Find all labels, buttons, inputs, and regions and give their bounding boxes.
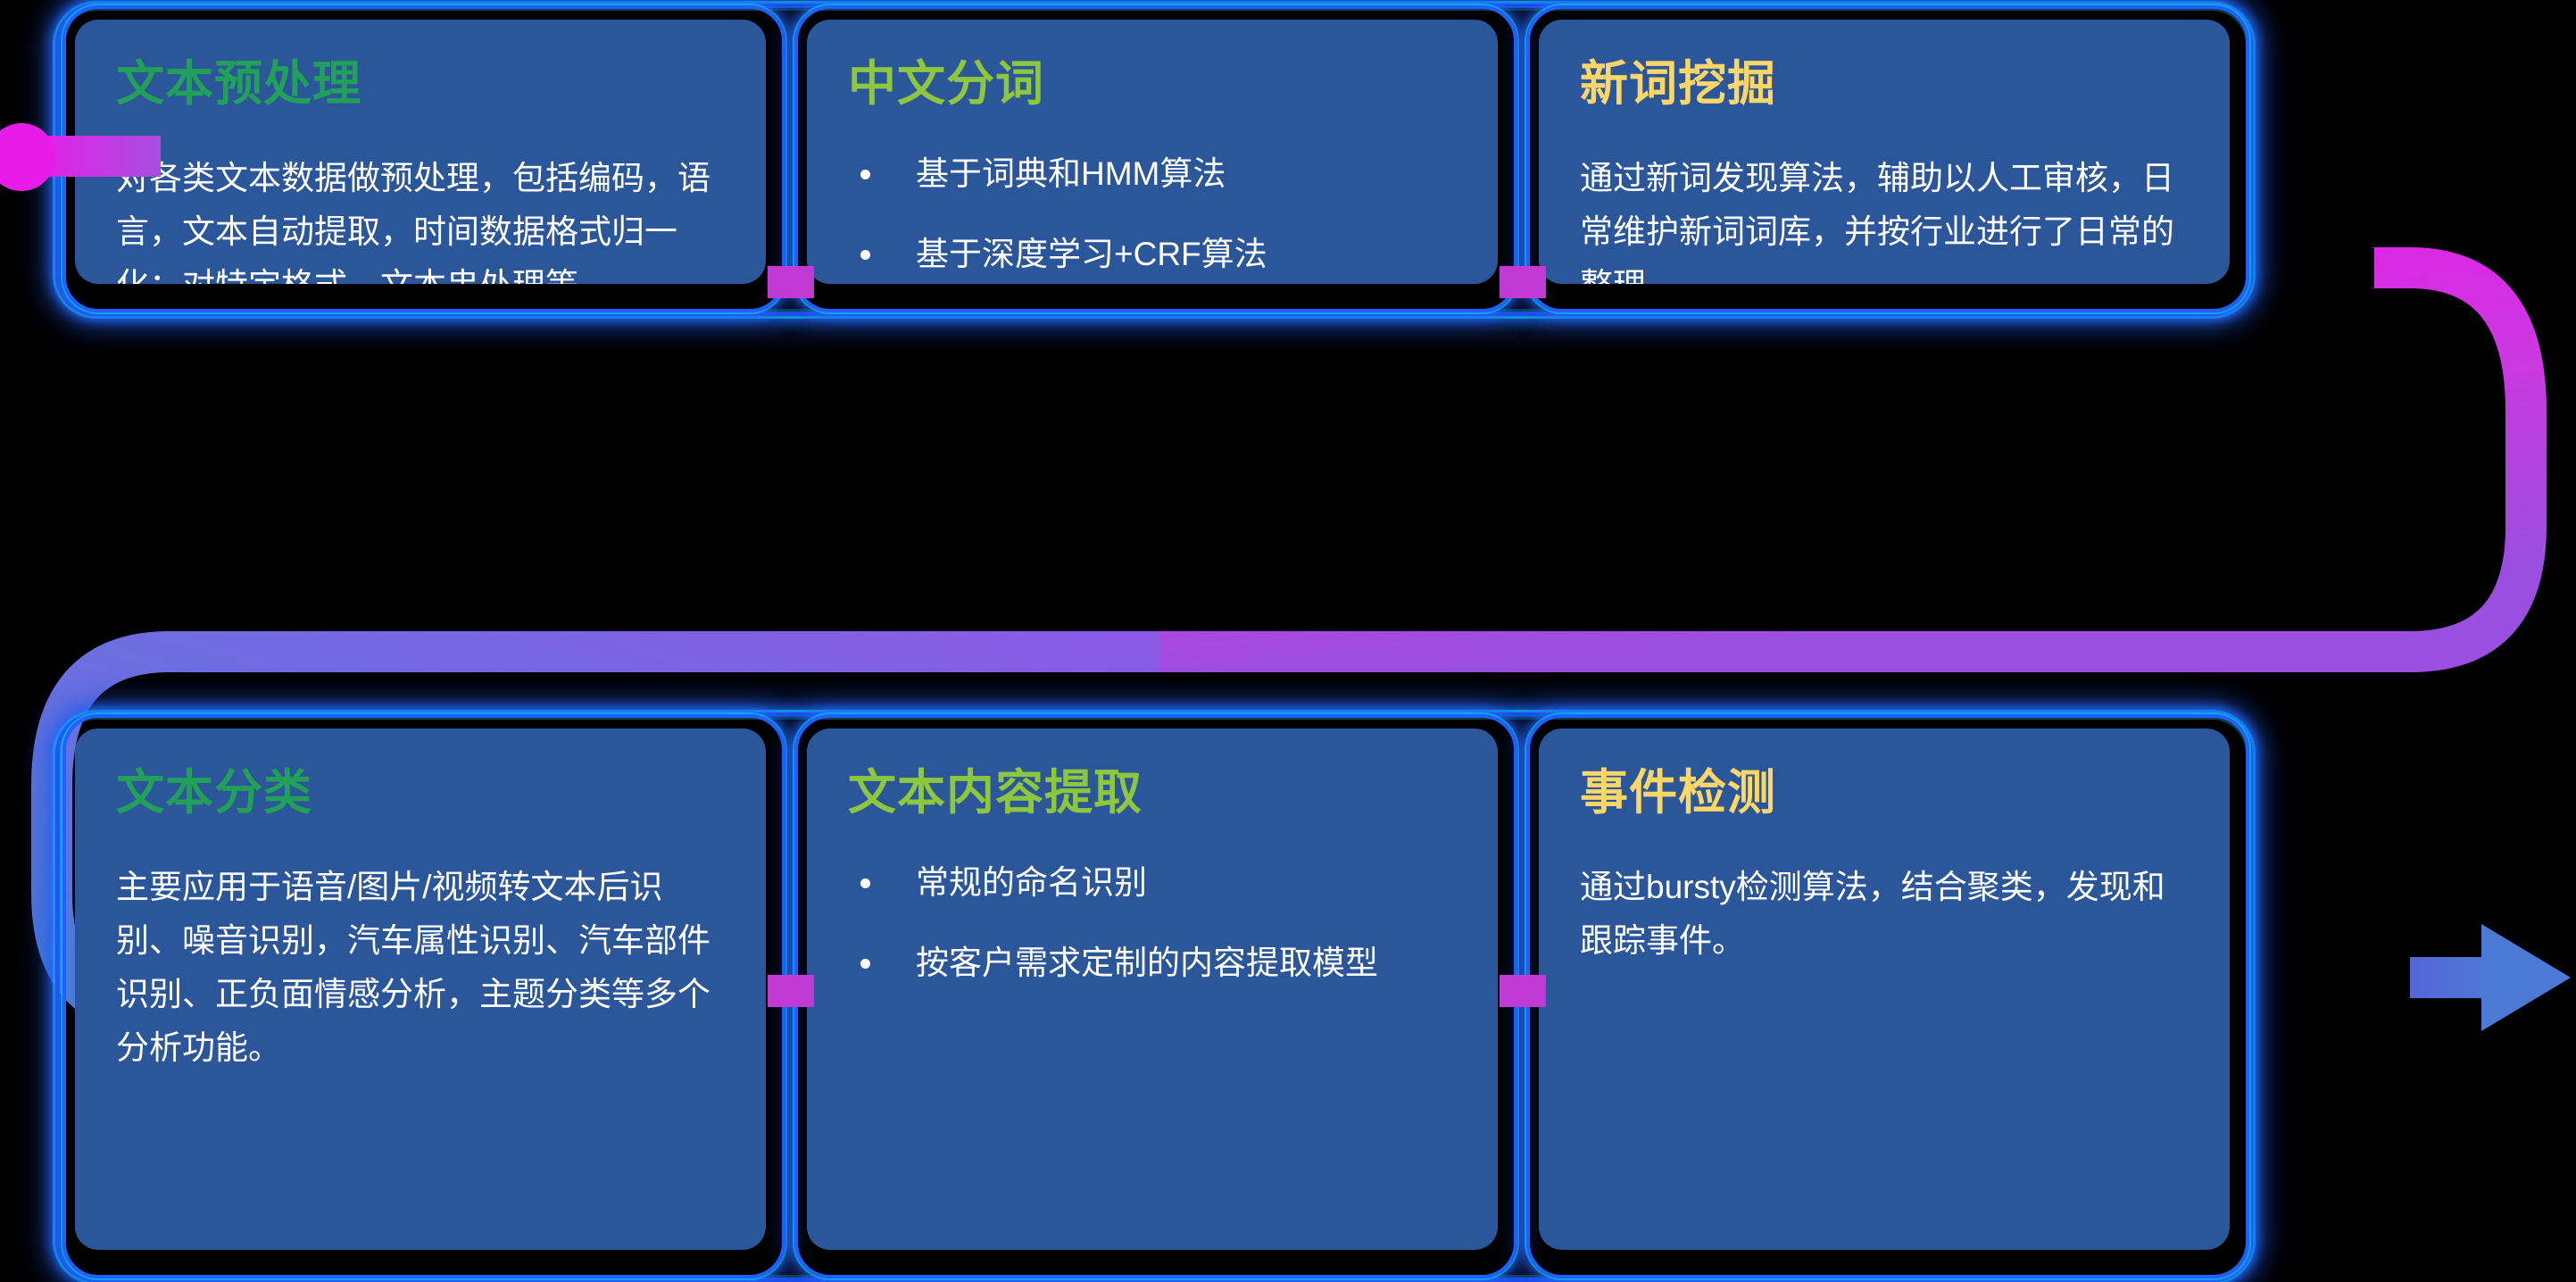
card-link-chip <box>768 975 814 1007</box>
card-link-chip <box>1500 266 1546 298</box>
card-title: 新词挖掘 <box>1580 57 2189 111</box>
card-bullet-list: 基于词典和HMM算法 基于深度学习+CRF算法 行业专有词典 <box>848 152 1457 284</box>
list-item-label: 基于深度学习+CRF算法 <box>916 236 1267 272</box>
card-title: 文本分类 <box>116 766 725 820</box>
card-title: 文本预处理 <box>116 57 725 111</box>
end-arrow-icon <box>2410 924 2571 1031</box>
list-item: 基于深度学习+CRF算法 <box>848 232 1457 277</box>
card-paragraph: 通过新词发现算法，辅助以人工审核，日常维护新词词库，并按行业进行了日常的整理。 <box>1580 152 2189 284</box>
card-paragraph: 对各类文本数据做预处理，包括编码，语言，文本自动提取，时间数据格式归一化；对特定… <box>116 152 725 284</box>
card-link-chip <box>768 266 814 298</box>
flow-diagram: 文本预处理 对各类文本数据做预处理，包括编码，语言，文本自动提取，时间数据格式归… <box>0 0 2576 1278</box>
card-paragraph: 通过bursty检测算法，结合聚类，发现和跟踪事件。 <box>1580 861 2189 968</box>
card-new-word-discovery[interactable]: 新词挖掘 通过新词发现算法，辅助以人工审核，日常维护新词词库，并按行业进行了日常… <box>1539 20 2230 284</box>
card-link-chip <box>1500 975 1546 1007</box>
card-content-extraction[interactable]: 文本内容提取 常规的命名识别 按客户需求定制的内容提取模型 <box>807 728 1498 1250</box>
card-text-classification[interactable]: 文本分类 主要应用于语音/图片/视频转文本后识别、噪音识别，汽车属性识别、汽车部… <box>75 728 766 1250</box>
list-item: 基于词典和HMM算法 <box>848 152 1457 196</box>
list-item: 常规的命名识别 <box>848 861 1457 905</box>
bullet-dot-icon <box>860 170 870 179</box>
list-item-label: 基于词典和HMM算法 <box>916 155 1226 192</box>
bullet-dot-icon <box>860 959 870 969</box>
list-item-label: 常规的命名识别 <box>916 864 1147 901</box>
card-chinese-segmentation[interactable]: 中文分词 基于词典和HMM算法 基于深度学习+CRF算法 行业专有词典 <box>807 20 1498 284</box>
card-text-preprocessing[interactable]: 文本预处理 对各类文本数据做预处理，包括编码，语言，文本自动提取，时间数据格式归… <box>75 20 766 284</box>
card-title: 文本内容提取 <box>848 766 1457 820</box>
bullet-dot-icon <box>860 878 870 888</box>
card-title: 中文分词 <box>848 57 1457 111</box>
list-item-label: 按客户需求定制的内容提取模型 <box>916 945 1378 981</box>
connector-right-wrap <box>1160 268 2526 652</box>
list-item: 按客户需求定制的内容提取模型 <box>848 941 1457 986</box>
bullet-dot-icon <box>860 250 870 260</box>
card-bullet-list: 常规的命名识别 按客户需求定制的内容提取模型 <box>848 861 1457 986</box>
card-title: 事件检测 <box>1580 766 2189 820</box>
card-event-detection[interactable]: 事件检测 通过bursty检测算法，结合聚类，发现和跟踪事件。 <box>1539 728 2230 1250</box>
card-paragraph: 主要应用于语音/图片/视频转文本后识别、噪音识别，汽车属性识别、汽车部件识别、正… <box>116 861 725 1075</box>
